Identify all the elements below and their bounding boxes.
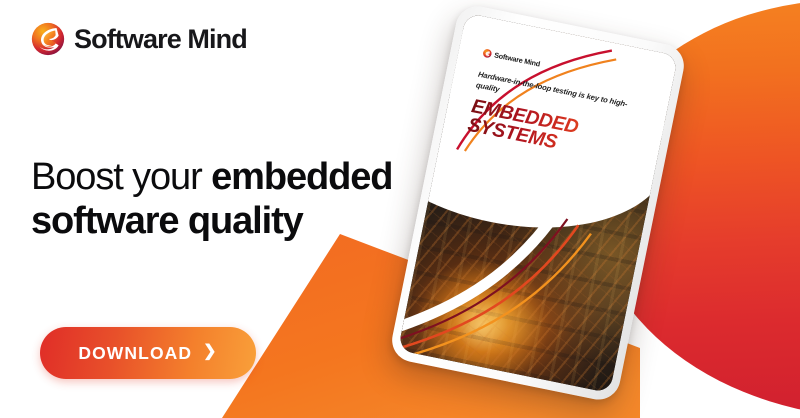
tablet-device: Software Mind Hardware-in-the-loop testi… (404, 6, 704, 414)
headline-regular-part: Boost your (31, 156, 211, 198)
software-mind-flame-logo-icon (31, 22, 65, 56)
chevron-right-icon: ❯ (203, 344, 218, 360)
tablet-frame: Software Mind Hardware-in-the-loop testi… (388, 3, 688, 404)
brand-logo[interactable]: Software Mind (31, 22, 247, 56)
page-title: Boost your embeddedsoftware quality (31, 155, 431, 244)
promo-banner: white paper (0, 0, 800, 418)
download-button[interactable]: DOWNLOAD ❯ (40, 327, 256, 379)
download-button-label: DOWNLOAD (78, 343, 192, 364)
headline-bold-part-2: software quality (31, 200, 303, 242)
tablet-screen: Software Mind Hardware-in-the-loop testi… (398, 13, 678, 393)
headline-bold-part-1: embedded (211, 156, 392, 198)
software-mind-flame-logo-icon (482, 48, 493, 59)
brand-name: Software Mind (74, 24, 247, 55)
